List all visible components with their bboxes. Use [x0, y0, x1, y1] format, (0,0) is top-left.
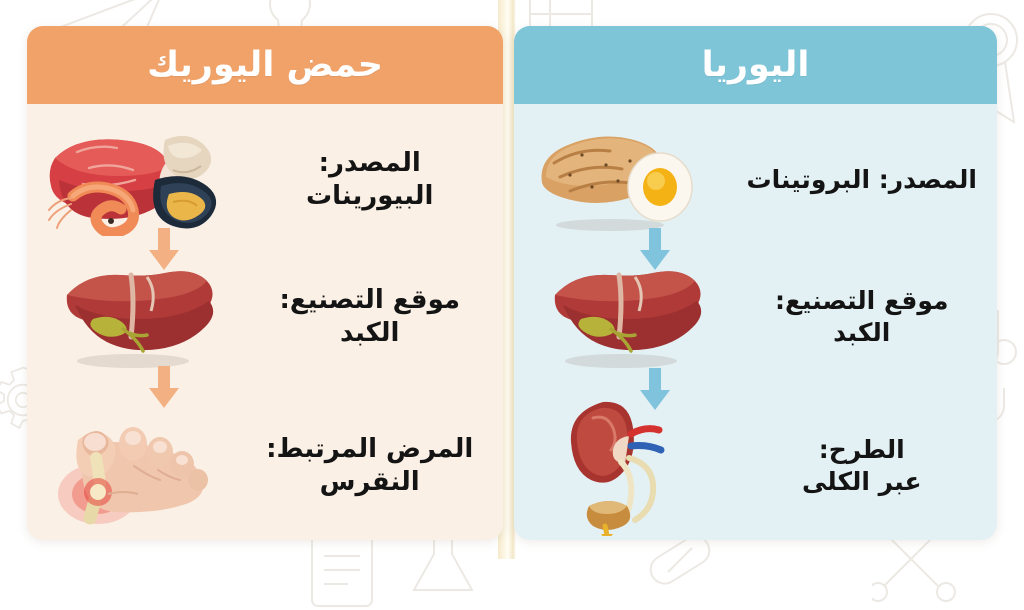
caption-line: المصدر:: [242, 147, 497, 180]
row-urea-source: المصدر: البروتينات: [514, 118, 997, 242]
down-arrow-icon: [638, 228, 672, 272]
row-urea-excretion: الطرح: عبر الكلى: [514, 396, 997, 536]
card-uric-acid-header: حمض اليوريك: [27, 26, 503, 104]
caption-urea-excretion: الطرح: عبر الكلى: [727, 434, 997, 498]
row-uric-acid-related-disease: المرض المرتبط: النقرس: [27, 396, 503, 536]
chicken-breast-egg-icon: [514, 125, 727, 235]
card-urea-title: اليوريا: [702, 48, 810, 83]
caption-line: موقع التصنيع:: [242, 284, 497, 317]
down-arrow-icon: [147, 228, 181, 272]
caption-line: موقع التصنيع:: [733, 285, 991, 317]
card-urea-header: اليوريا: [514, 26, 997, 104]
caption-uric-acid-production-site: موقع التصنيع: الكبد: [236, 284, 503, 351]
liver-icon: [514, 261, 727, 373]
caption-line: عبر الكلى: [733, 466, 991, 498]
row-uric-acid-source: المصدر: البيورينات: [27, 118, 503, 242]
caption-line: النقرس: [242, 466, 497, 499]
caption-line: الطرح:: [733, 434, 991, 466]
card-uric-acid-title: حمض اليوريك: [147, 48, 383, 83]
card-urea-body: المصدر: البروتينات: [514, 104, 997, 540]
caption-line: المرض المرتبط:: [242, 433, 497, 466]
caption-urea-production-site: موقع التصنيع: الكبد: [727, 285, 997, 349]
caption-line: البيورينات: [242, 180, 497, 213]
card-uric-acid: حمض اليوريك: [27, 26, 503, 540]
caption-uric-acid-related-disease: المرض المرتبط: النقرس: [236, 433, 503, 500]
caption-uric-acid-source: المصدر: البيورينات: [236, 147, 503, 214]
caption-line: الكبد: [242, 317, 497, 350]
down-arrow-icon: [638, 368, 672, 412]
comparison-stage: حمض اليوريك: [0, 0, 1024, 559]
row-uric-acid-production-site: موقع التصنيع: الكبد: [27, 254, 503, 380]
liver-icon: [27, 261, 236, 373]
down-arrow-icon: [147, 366, 181, 410]
kidney-bladder-icon: [514, 396, 727, 536]
caption-urea-source: المصدر: البروتينات: [727, 164, 997, 196]
caption-line: المصدر: البروتينات: [733, 164, 991, 196]
row-urea-production-site: موقع التصنيع: الكبد: [514, 254, 997, 380]
card-uric-acid-body: المصدر: البيورينات: [27, 104, 503, 540]
red-meat-shrimp-shellfish-icon: [27, 124, 236, 236]
card-urea: اليوريا: [514, 26, 997, 540]
gout-foot-icon: [27, 398, 236, 534]
caption-line: الكبد: [733, 317, 991, 349]
